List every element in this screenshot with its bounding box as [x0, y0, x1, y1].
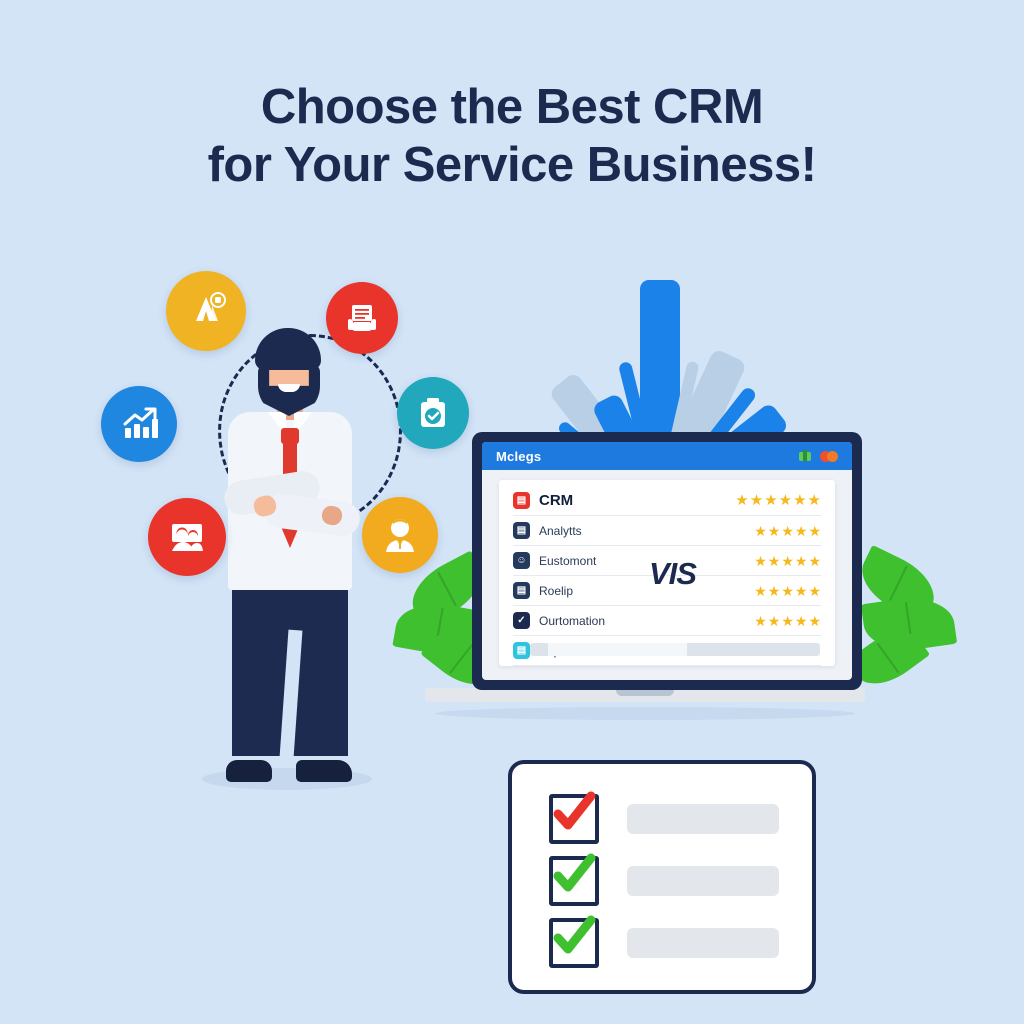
progress-bar[interactable] — [530, 643, 820, 656]
clipboard-check-icon[interactable] — [397, 377, 469, 449]
placeholder-bar — [627, 804, 779, 834]
star-icon: ★ — [808, 554, 821, 568]
customer-icon: ☺ — [513, 552, 530, 569]
star-icon: ★ — [754, 584, 767, 598]
support-icon: ▤ — [513, 642, 530, 659]
row-label: Roelip — [539, 584, 573, 598]
comparison-panel: ▤CRM★★★★★★▤Analytts★★★★★☺Eustomont★★★★★▤… — [499, 480, 835, 666]
star-icon: ★ — [754, 524, 767, 538]
progress-fill — [548, 643, 687, 656]
shoe-right — [296, 760, 352, 782]
table-row[interactable]: ▤CRM★★★★★★ — [513, 486, 821, 516]
analytics-icon: ▤ — [513, 522, 530, 539]
checkbox[interactable] — [549, 794, 599, 844]
laptop-base — [425, 688, 865, 702]
star-icon: ★ — [754, 614, 767, 628]
star-icon: ★ — [768, 584, 781, 598]
window-controls[interactable] — [799, 451, 838, 462]
star-icon: ★ — [735, 493, 748, 508]
growth-badge-icon[interactable] — [166, 271, 246, 351]
row-label: Eustomont — [539, 554, 596, 568]
table-row[interactable]: ▤Analytts★★★★★ — [513, 516, 821, 546]
placeholder-bar — [627, 866, 779, 896]
star-icon: ★ — [808, 493, 821, 508]
window-titlebar: Mclegs — [482, 442, 852, 470]
laptop-lid: Mclegs ▤CRM★★★★★★▤Analytts★★★★★☺Eustomon… — [472, 432, 862, 690]
star-icon: ★ — [781, 554, 794, 568]
checkbox[interactable] — [549, 856, 599, 906]
document-chair-icon[interactable] — [326, 282, 398, 354]
checkbox[interactable] — [549, 918, 599, 968]
watermark-text: VIS — [649, 556, 696, 592]
star-rating[interactable]: ★★★★★ — [754, 554, 821, 568]
star-icon: ★ — [781, 614, 794, 628]
list-item[interactable] — [549, 856, 779, 906]
row-label: CRM — [539, 492, 573, 509]
poster-canvas: Choose the Best CRM for Your Service Bus… — [0, 0, 1024, 1024]
star-icon: ★ — [768, 614, 781, 628]
star-rating[interactable]: ★★★★★ — [754, 524, 821, 538]
star-icon: ★ — [754, 554, 767, 568]
list-item[interactable] — [549, 794, 779, 844]
crm-icon: ▤ — [513, 492, 530, 509]
star-icon: ★ — [793, 493, 806, 508]
user-profile-icon[interactable] — [362, 497, 438, 573]
report-icon: ▤ — [513, 582, 530, 599]
star-icon: ★ — [781, 584, 794, 598]
star-icon: ★ — [768, 554, 781, 568]
headline-line-2: for Your Service Business! — [0, 136, 1024, 194]
star-icon: ★ — [808, 524, 821, 538]
bar-chart-icon[interactable] — [101, 386, 177, 462]
star-icon: ★ — [768, 524, 781, 538]
star-icon: ★ — [795, 584, 808, 598]
laptop: Mclegs ▤CRM★★★★★★▤Analytts★★★★★☺Eustomon… — [425, 432, 865, 732]
close-dots-icon[interactable] — [820, 451, 838, 462]
star-icon: ★ — [795, 614, 808, 628]
table-row[interactable]: ✓Ourtomation★★★★★ — [513, 606, 821, 636]
star-icon: ★ — [750, 493, 763, 508]
page-title: Choose the Best CRM for Your Service Bus… — [0, 78, 1024, 194]
team-people-icon[interactable] — [148, 498, 226, 576]
row-label: Analytts — [539, 524, 582, 538]
star-rating[interactable]: ★★★★★★ — [735, 493, 821, 508]
check-icon: ✓ — [513, 612, 530, 629]
star-icon: ★ — [795, 554, 808, 568]
star-icon: ★ — [808, 614, 821, 628]
row-label: Ourtomation — [539, 614, 605, 628]
star-icon: ★ — [795, 524, 808, 538]
green-status-icon — [799, 452, 811, 461]
headline-line-1: Choose the Best CRM — [261, 80, 763, 134]
laptop-screen: Mclegs ▤CRM★★★★★★▤Analytts★★★★★☺Eustomon… — [482, 442, 852, 680]
star-rating[interactable]: ★★★★★ — [754, 614, 821, 628]
star-rating[interactable]: ★★★★★ — [754, 584, 821, 598]
checklist-card — [508, 760, 816, 994]
laptop-shadow — [435, 707, 855, 720]
star-icon: ★ — [808, 584, 821, 598]
shoe-left — [226, 760, 272, 782]
placeholder-bar — [627, 928, 779, 958]
window-title: Mclegs — [496, 449, 541, 464]
star-icon: ★ — [764, 493, 777, 508]
star-icon: ★ — [781, 524, 794, 538]
star-icon: ★ — [779, 493, 792, 508]
list-item[interactable] — [549, 918, 779, 968]
